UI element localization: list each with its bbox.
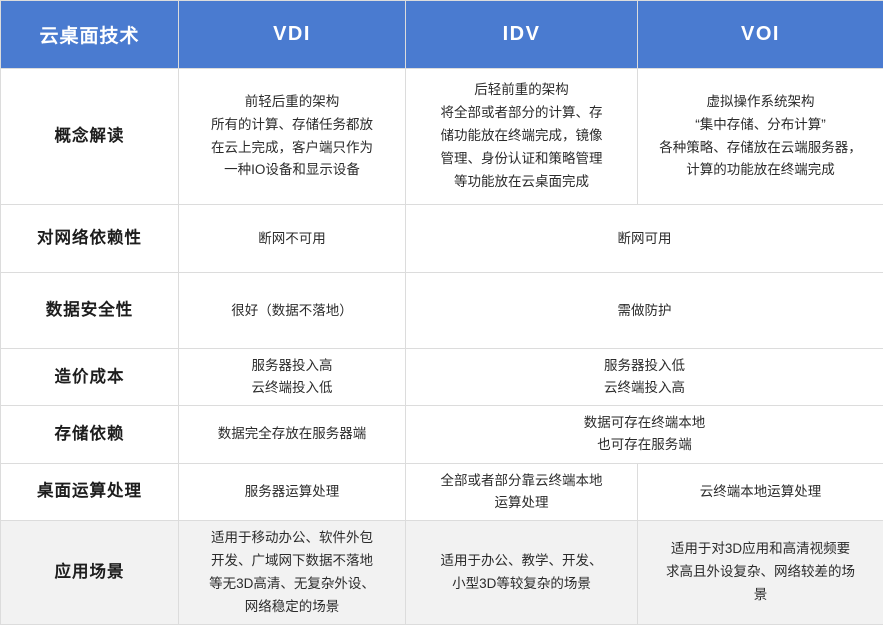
cell-usecase-voi: 适用于对3D应用和高清视频要 求高且外设复杂、网络较差的场 景 xyxy=(638,520,883,625)
cell-network-vdi: 断网不可用 xyxy=(179,205,406,273)
header-cell-idv: IDV xyxy=(406,1,638,69)
header-cell-technology: 云桌面技术 xyxy=(1,1,179,69)
table-row: 造价成本 服务器投入高 云终端投入低 服务器投入低 云终端投入高 xyxy=(1,349,883,406)
table-row: 存储依赖 数据完全存放在服务器端 数据可存在终端本地 也可存在服务端 xyxy=(1,405,883,463)
cell-compute-idv: 全部或者部分靠云终端本地 运算处理 xyxy=(406,463,638,520)
table-row: 数据安全性 很好（数据不落地） 需做防护 xyxy=(1,273,883,349)
table-row: 对网络依赖性 断网不可用 断网可用 xyxy=(1,205,883,273)
row-label-storage-dependency: 存储依赖 xyxy=(1,405,179,463)
cell-storage-vdi: 数据完全存放在服务器端 xyxy=(179,405,406,463)
table-header-row: 云桌面技术 VDI IDV VOI xyxy=(1,1,883,69)
cell-cost-vdi: 服务器投入高 云终端投入低 xyxy=(179,349,406,406)
header-cell-voi: VOI xyxy=(638,1,883,69)
row-label-use-cases: 应用场景 xyxy=(1,520,179,625)
cell-cost-idv-voi: 服务器投入低 云终端投入高 xyxy=(406,349,883,406)
cloud-desktop-comparison-table: 云桌面技术 VDI IDV VOI 概念解读 前轻后重的架构 所有的计算、存储任… xyxy=(0,0,883,625)
comparison-table-container: 云桌面技术 VDI IDV VOI 概念解读 前轻后重的架构 所有的计算、存储任… xyxy=(0,0,883,611)
header-cell-vdi: VDI xyxy=(179,1,406,69)
cell-storage-idv-voi: 数据可存在终端本地 也可存在服务端 xyxy=(406,405,883,463)
row-label-cost: 造价成本 xyxy=(1,349,179,406)
cell-usecase-idv: 适用于办公、教学、开发、 小型3D等较复杂的场景 xyxy=(406,520,638,625)
cell-network-idv-voi: 断网可用 xyxy=(406,205,883,273)
cell-concept-voi: 虚拟操作系统架构 “集中存储、分布计算” 各种策略、存储放在云端服务器， 计算的… xyxy=(638,69,883,205)
table-row: 概念解读 前轻后重的架构 所有的计算、存储任务都放 在云上完成，客户端只作为 一… xyxy=(1,69,883,205)
row-label-concept: 概念解读 xyxy=(1,69,179,205)
table-header: 云桌面技术 VDI IDV VOI xyxy=(1,1,883,69)
cell-security-idv-voi: 需做防护 xyxy=(406,273,883,349)
row-label-network-dependency: 对网络依赖性 xyxy=(1,205,179,273)
cell-compute-voi: 云终端本地运算处理 xyxy=(638,463,883,520)
cell-usecase-vdi: 适用于移动办公、软件外包 开发、广域网下数据不落地 等无3D高清、无复杂外设、 … xyxy=(179,520,406,625)
cell-concept-idv: 后轻前重的架构 将全部或者部分的计算、存 储功能放在终端完成，镜像 管理、身份认… xyxy=(406,69,638,205)
cell-concept-vdi: 前轻后重的架构 所有的计算、存储任务都放 在云上完成，客户端只作为 一种IO设备… xyxy=(179,69,406,205)
table-row: 应用场景 适用于移动办公、软件外包 开发、广域网下数据不落地 等无3D高清、无复… xyxy=(1,520,883,625)
table-row: 桌面运算处理 服务器运算处理 全部或者部分靠云终端本地 运算处理 云终端本地运算… xyxy=(1,463,883,520)
cell-security-vdi: 很好（数据不落地） xyxy=(179,273,406,349)
row-label-data-security: 数据安全性 xyxy=(1,273,179,349)
table-body: 概念解读 前轻后重的架构 所有的计算、存储任务都放 在云上完成，客户端只作为 一… xyxy=(1,69,883,625)
cell-compute-vdi: 服务器运算处理 xyxy=(179,463,406,520)
row-label-desktop-compute: 桌面运算处理 xyxy=(1,463,179,520)
